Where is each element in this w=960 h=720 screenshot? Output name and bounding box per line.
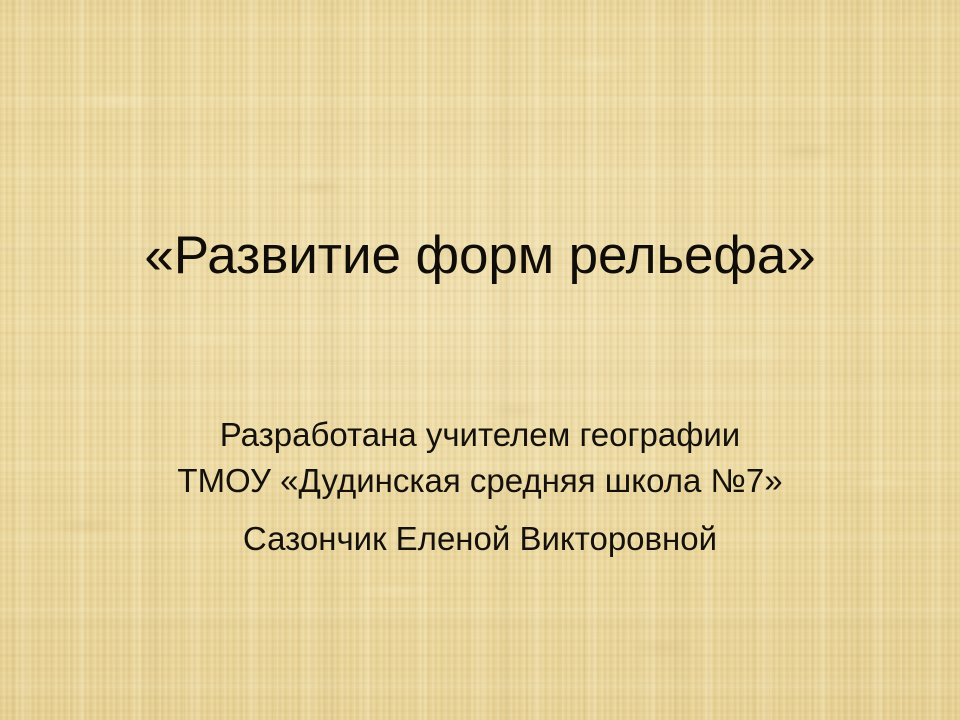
slide-content: «Развитие форм рельефа» Разработана учит… bbox=[0, 0, 960, 720]
subtitle-line-author-name: Сазончик Еленой Викторовной bbox=[0, 522, 960, 555]
subtitle-line-author-role: Разработана учителем географии bbox=[0, 418, 960, 451]
presentation-slide: «Развитие форм рельефа» Разработана учит… bbox=[0, 0, 960, 720]
slide-title: «Развитие форм рельефа» bbox=[0, 229, 960, 283]
subtitle-line-school: ТМОУ «Дудинская средняя школа №7» bbox=[0, 464, 960, 497]
slide-subtitle: Разработана учителем географии ТМОУ «Дуд… bbox=[0, 418, 960, 555]
